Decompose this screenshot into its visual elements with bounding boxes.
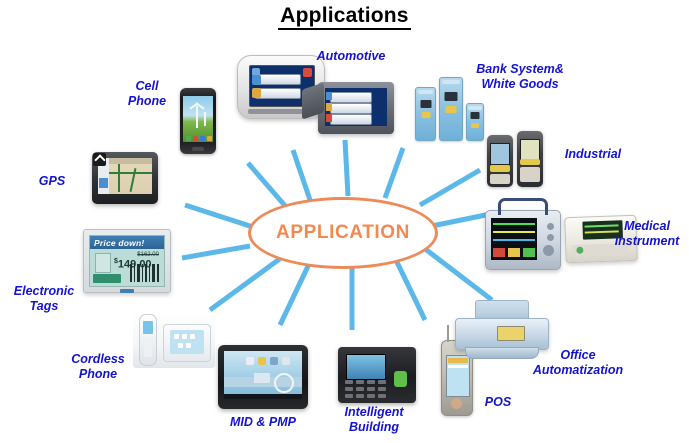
label-electronic-tags: Electronic Tags — [2, 284, 86, 314]
hub-application-ellipse: APPLICATION — [248, 197, 438, 269]
label-intelligent: Intelligent Building — [327, 405, 421, 435]
spoke-pos — [395, 258, 425, 320]
spoke-electronic-tags — [182, 246, 250, 258]
spoke-office — [420, 245, 492, 300]
spoke-industrial — [420, 170, 480, 205]
label-industrial: Industrial — [548, 147, 638, 162]
label-automotive: Automotive — [296, 49, 406, 64]
terminal-screen — [346, 354, 386, 380]
spoke-gps — [185, 205, 253, 227]
device-fingerprint-terminal — [338, 347, 416, 403]
label-medical: Medical Instrument — [604, 219, 689, 249]
label-gps: GPS — [25, 174, 79, 189]
spoke-mid-pmp — [280, 262, 310, 325]
pos-antenna-icon — [447, 325, 449, 342]
spoke-automotive-2 — [345, 140, 348, 196]
spoke-cordless — [210, 255, 285, 310]
device-electronic-price-tag: Price down! $162.00 $149.00 — [83, 229, 171, 293]
gps-map-screen — [98, 158, 152, 194]
spoke-automotive — [293, 150, 310, 200]
device-automotive-display — [318, 82, 394, 134]
terminal-keypad — [345, 380, 395, 398]
barcode-icon — [130, 264, 160, 282]
spoke-bank — [385, 148, 403, 198]
hub-label: APPLICATION — [276, 222, 410, 244]
label-cordless-phone: Cordless Phone — [57, 352, 139, 382]
label-cell-phone: Cell Phone — [108, 79, 186, 109]
monitor-screen — [491, 218, 537, 260]
cordless-handset-screen — [143, 321, 153, 334]
printer-control-panel — [497, 326, 525, 341]
device-gps-navigator — [92, 152, 158, 204]
gps-turn-icon — [93, 153, 106, 166]
automotive-display-screen — [325, 88, 387, 126]
device-tablet — [218, 345, 308, 409]
tablet-screen — [224, 351, 302, 399]
label-bank-system: Bank System& White Goods — [455, 62, 585, 92]
device-industrial-handhelds — [487, 131, 545, 189]
device-patient-monitor — [485, 210, 561, 270]
price-tag-headline: Price down! — [90, 236, 164, 249]
device-cordless-phone — [133, 312, 215, 368]
label-pos: POS — [474, 395, 522, 410]
fingerprint-sensor-icon — [394, 371, 407, 387]
spoke-cell-phone — [248, 163, 287, 208]
applications-diagram: Applications APPLICATION — [0, 0, 689, 443]
cordless-base-screen — [170, 330, 204, 354]
label-office: Office Automatization — [520, 348, 636, 378]
label-mid-pmp: MID & PMP — [215, 415, 311, 430]
monitor-handle — [498, 198, 548, 215]
